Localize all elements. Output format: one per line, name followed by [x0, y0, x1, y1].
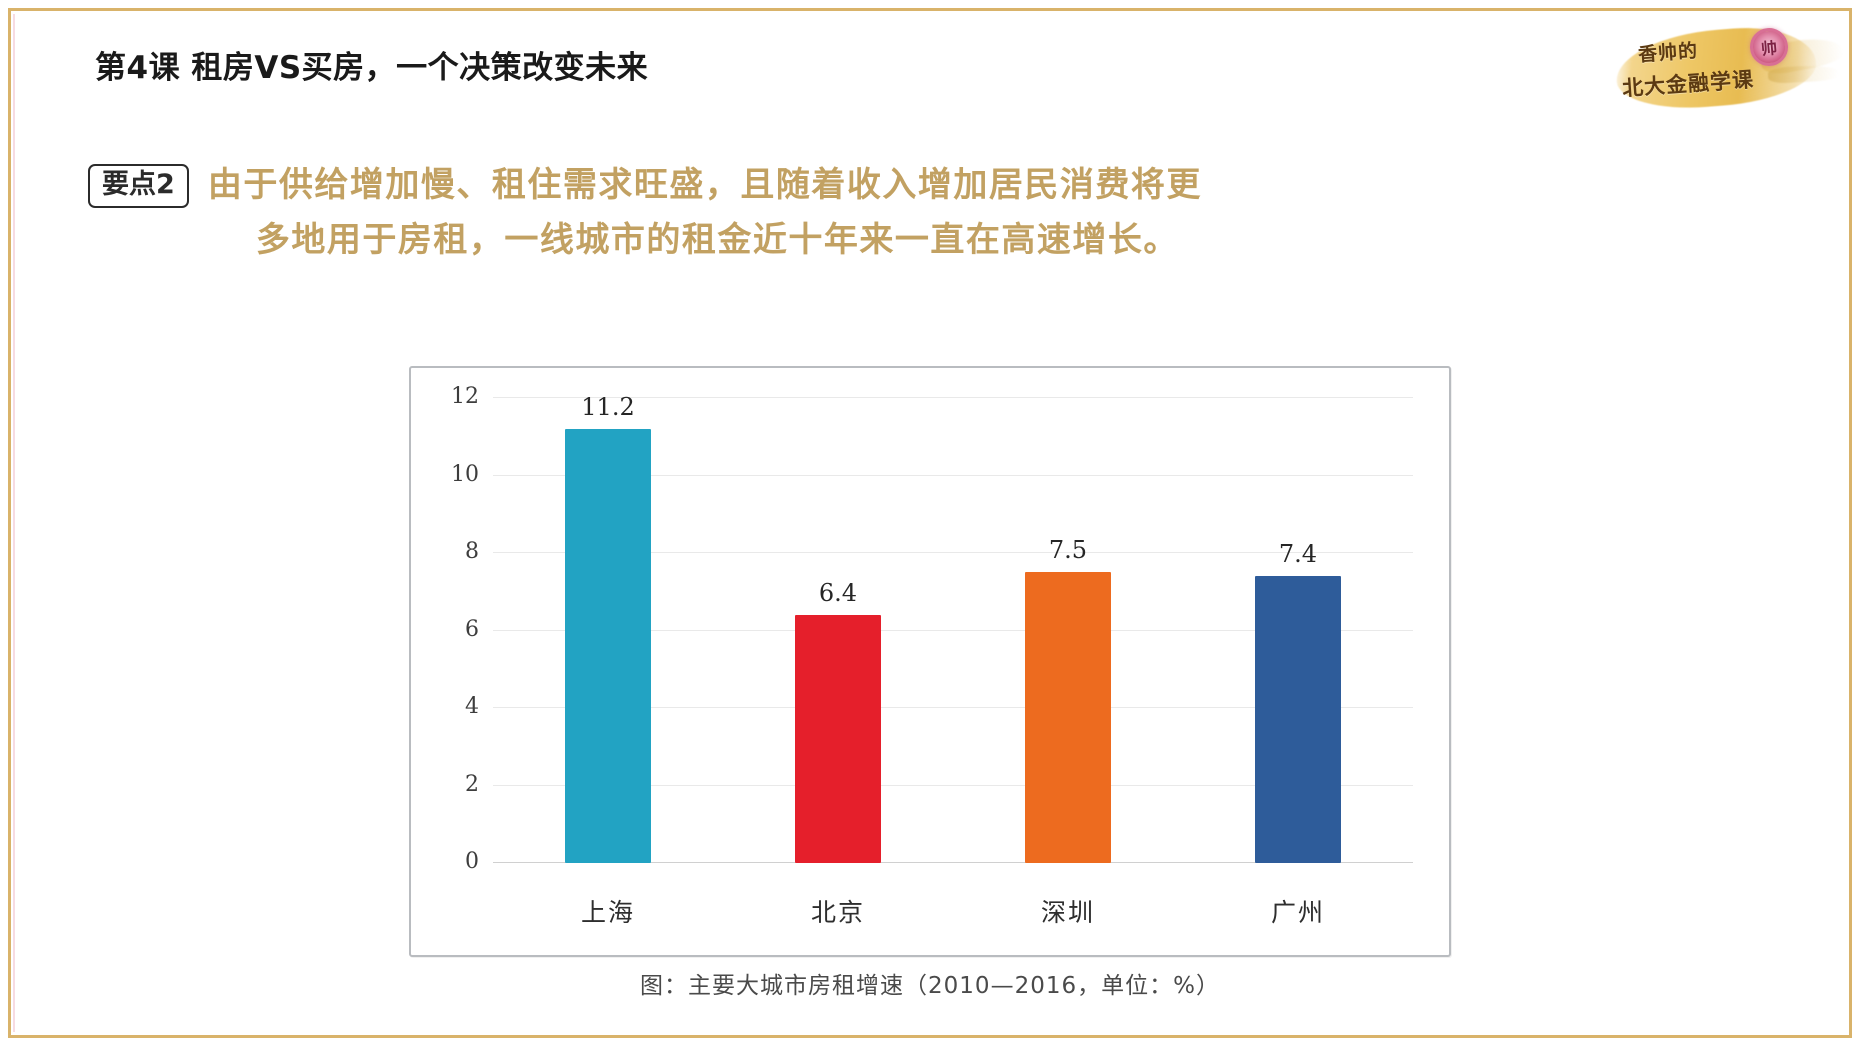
bar-value-深圳: 7.5 [1049, 536, 1087, 564]
y-axis-tick-10: 10 [451, 462, 479, 487]
chart-card: 024681012 11.2上海6.4北京7.5深圳7.4广州 [409, 366, 1451, 957]
y-axis-tick-2: 2 [465, 772, 479, 797]
bar-value-广州: 7.4 [1279, 540, 1317, 568]
bar-group-0: 11.2上海 [516, 398, 700, 863]
bar-group-2: 7.5深圳 [976, 398, 1160, 863]
y-axis-tick-8: 8 [465, 539, 479, 564]
brush-tail-icon-2 [1768, 64, 1839, 84]
bar-group-3: 7.4广州 [1206, 398, 1390, 863]
keypoint-line-1: 由于供给增加慢、租住需求旺盛，且随着收入增加居民消费将更 [208, 165, 1202, 205]
bar-上海[interactable] [565, 429, 651, 863]
slide-canvas: 第4课 租房VS买房，一个决策改变未来 香帅的 北大金融学课 帅 要点2 由于供… [0, 0, 1860, 1046]
page-title: 第4课 租房VS买房，一个决策改变未来 [95, 42, 648, 87]
keypoint-block: 要点2 由于供给增加慢、租住需求旺盛，且随着收入增加居民消费将更 多地用于房租，… [88, 158, 1728, 268]
chart-bars: 11.2上海6.4北京7.5深圳7.4广州 [493, 398, 1413, 863]
x-axis-label-北京: 北京 [811, 893, 865, 929]
x-axis-label-广州: 广州 [1271, 893, 1325, 929]
y-axis-tick-6: 6 [465, 617, 479, 642]
frame-accent-left [13, 14, 15, 1032]
y-axis-tick-12: 12 [451, 384, 479, 409]
keypoint-text: 由于供给增加慢、租住需求旺盛，且随着收入增加居民消费将更 多地用于房租，一线城市… [208, 158, 1658, 268]
x-axis-label-深圳: 深圳 [1041, 893, 1095, 929]
bar-深圳[interactable] [1025, 572, 1111, 863]
bar-广州[interactable] [1255, 576, 1341, 863]
bar-北京[interactable] [795, 615, 881, 863]
chart-plot-area: 024681012 11.2上海6.4北京7.5深圳7.4广州 [493, 398, 1413, 863]
brand-logo: 香帅的 北大金融学课 帅 [1610, 14, 1842, 118]
frame-border-right [1849, 8, 1852, 1038]
x-axis-label-上海: 上海 [581, 893, 635, 929]
chart-caption: 图：主要大城市房租增速（2010—2016，单位：%） [409, 966, 1451, 1000]
keypoint-line-2: 多地用于房租，一线城市的租金近十年来一直在高速增长。 [208, 213, 1658, 268]
y-axis-tick-0: 0 [465, 849, 479, 874]
bar-group-1: 6.4北京 [746, 398, 930, 863]
frame-border-bottom [8, 1035, 1852, 1038]
keypoint-badge: 要点2 [88, 164, 189, 208]
bar-value-北京: 6.4 [819, 579, 857, 607]
bar-value-上海: 11.2 [581, 393, 634, 421]
frame-border-left [8, 8, 11, 1038]
frame-border-top [8, 8, 1852, 11]
brand-line-1: 香帅的 [1637, 36, 1699, 67]
y-axis-tick-4: 4 [465, 694, 479, 719]
